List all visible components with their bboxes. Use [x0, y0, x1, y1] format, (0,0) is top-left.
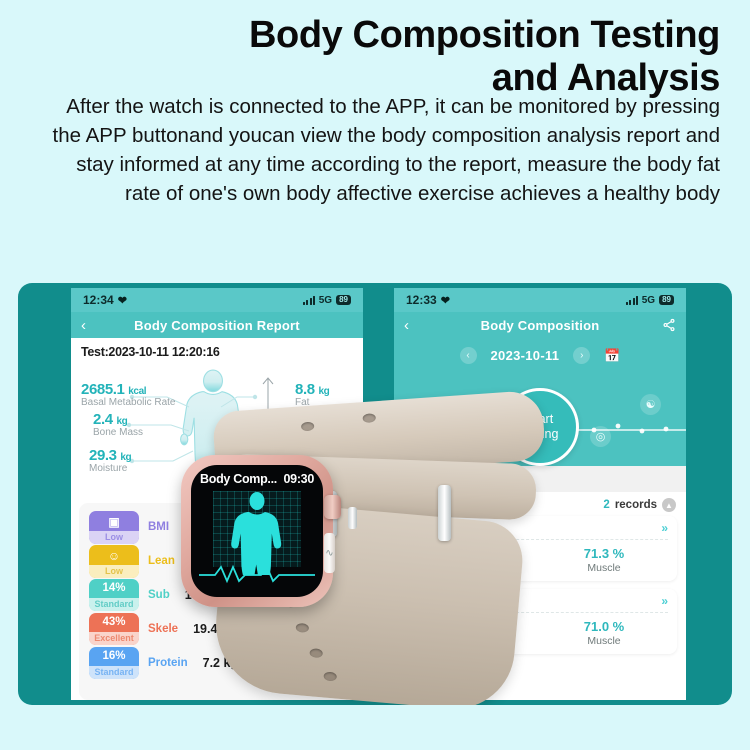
- record-card-1-muscle-label: Muscle: [540, 562, 668, 574]
- chevron-up-icon[interactable]: ▲: [662, 498, 676, 512]
- record-card-2-muscle: 71.0 % Muscle: [540, 619, 668, 647]
- start-testing-area: ⚘ ◎ ◎ ☯ Start testing: [394, 382, 686, 466]
- metric-status-lean: Low: [89, 565, 139, 578]
- back-button[interactable]: ‹: [404, 318, 424, 333]
- status-bar-left: 12:34 ❤ 5G 89: [71, 288, 363, 312]
- status-bar-right: 12:33 ❤ 5G 89: [394, 288, 686, 312]
- records-count-value: 2: [603, 499, 609, 511]
- metric-chip-bmi: ▣ Low: [89, 511, 139, 544]
- testing-section: ‹ 2023-10-11 › 📅 ⚘ ◎ ◎ ☯: [394, 338, 686, 466]
- metric-list: ▣ Low BMI 16.5 ☺ Low Lean 36. 14% Standa…: [79, 503, 355, 700]
- metric-row-skeletal[interactable]: 43% Excellent Skele 19.4 kg: [79, 612, 355, 646]
- record-card-2-muscle-value: 71.0 %: [540, 619, 668, 634]
- record-card-1-muscle-value: 71.3 %: [540, 546, 668, 561]
- network-label-right: 5G: [642, 295, 655, 306]
- record-card-1-stats: 6% y Fat 71.3 % Muscle: [412, 540, 668, 574]
- header-section: Body Composition Testing and Analysis Af…: [0, 0, 750, 283]
- record-card-1-bodyfat-label: y Fat: [412, 562, 540, 574]
- heart-icon: ❤: [118, 294, 127, 307]
- back-button[interactable]: ‹: [81, 318, 101, 333]
- metric-moisture-number: 29.3: [89, 447, 117, 464]
- branch-icon: ◎: [590, 426, 611, 447]
- record-card-1[interactable]: 6 » 6% y Fat 71.3 % Muscle: [403, 516, 677, 581]
- metric-status-bmi: Low: [89, 531, 139, 544]
- metric-moisture-label: Moisture: [89, 463, 131, 474]
- metric-name-protein: Protein: [148, 657, 188, 669]
- test-timestamp: Test:2023-10-11 12:20:16: [71, 338, 363, 363]
- muscle-icon: ☯: [640, 394, 661, 415]
- metric-status-skeletal: Excellent: [89, 632, 139, 645]
- prev-date-button[interactable]: ‹: [460, 347, 477, 364]
- metric-chip-skeletal: 43% Excellent: [89, 613, 139, 645]
- heart-icon: ❤: [441, 294, 450, 307]
- metric-bone-mass-unit: kg: [116, 416, 127, 427]
- metric-bmr-number: 2685.1: [81, 381, 124, 398]
- record-card-2-stats: 19.9 % Body Fat 71.0 % Muscle: [412, 613, 668, 647]
- metric-bmr-unit: kcal: [128, 386, 146, 397]
- record-card-2-muscle-label: Muscle: [540, 635, 668, 647]
- metric-row-subcutaneous[interactable]: 14% Standard Sub 13.: [79, 578, 355, 612]
- height-label: 165cm: [279, 427, 316, 441]
- metric-bmr-label: Basal Metabolic Rate: [81, 397, 176, 408]
- metric-bmr-value: 2685.1 kcal: [81, 381, 176, 398]
- metric-value-protein: 7.2 kg: [203, 656, 238, 670]
- metric-bone-mass-label: Bone Mass: [93, 427, 143, 438]
- app-bar-right: ‹ Body Composition: [394, 312, 686, 338]
- signal-bars-icon: [626, 296, 638, 305]
- record-card-2-bodyfat-label: Body Fat: [412, 635, 540, 647]
- metric-fat-number: 8.8: [295, 381, 315, 398]
- metric-row-bmi[interactable]: ▣ Low BMI 16.5: [79, 510, 355, 544]
- metric-value-subcutaneous: 13.: [185, 588, 202, 602]
- status-time-right: 12:33: [406, 293, 437, 307]
- metric-row-lean[interactable]: ☺ Low Lean 36.: [79, 544, 355, 578]
- metric-fat-label: Fat: [295, 397, 329, 408]
- product-image-panel: 12:34 ❤ 5G 89 ‹ Body Composition Report …: [18, 283, 732, 705]
- metric-chip-lean: ☺ Low: [89, 545, 139, 578]
- metric-fat: 8.8 kg Fat: [295, 381, 329, 408]
- metric-chip-subcutaneous: 14% Standard: [89, 579, 139, 611]
- lean-body-icon: ☺: [89, 549, 139, 562]
- record-card-1-muscle: 71.3 % Muscle: [540, 546, 668, 574]
- double-chevron-right-icon[interactable]: »: [661, 594, 668, 608]
- record-card-2-bodyfat: 19.9 % Body Fat: [412, 619, 540, 647]
- metric-chip-value-subcutaneous: 14%: [102, 582, 125, 594]
- record-card-1-time: 6: [412, 522, 418, 534]
- record-card-2-bodyfat-value: 19.9 %: [412, 619, 540, 634]
- status-left-group-right: 12:33 ❤: [406, 293, 450, 307]
- next-date-button[interactable]: ›: [573, 347, 590, 364]
- share-icon[interactable]: [656, 318, 676, 332]
- metric-name-lean: Lean: [148, 555, 175, 567]
- records-count: 2 records ▲: [394, 492, 686, 516]
- app-title-right: Body Composition: [424, 318, 656, 333]
- dna-icon: ⚘: [430, 424, 451, 445]
- phone-left: 12:34 ❤ 5G 89 ‹ Body Composition Report …: [71, 288, 363, 700]
- page-title: Body Composition Testing and Analysis: [60, 14, 720, 99]
- calendar-icon[interactable]: 📅: [604, 348, 620, 364]
- date-navigation: ‹ 2023-10-11 › 📅: [394, 338, 686, 364]
- phone-right: 12:33 ❤ 5G 89 ‹ Body Composition ‹: [394, 288, 686, 700]
- page-subtitle: After the watch is connected to the APP,…: [52, 92, 720, 208]
- metric-value-skeletal: 19.4 kg: [193, 622, 235, 636]
- double-chevron-right-icon[interactable]: »: [661, 521, 668, 535]
- metric-moisture: 29.3 kg Moisture: [89, 447, 131, 474]
- record-card-1-bodyfat: 6% y Fat: [412, 546, 540, 574]
- metric-moisture-unit: kg: [120, 452, 131, 463]
- metric-chip-protein: 16% Standard: [89, 647, 139, 679]
- network-label: 5G: [319, 295, 332, 306]
- bmi-icon: ▣: [89, 515, 139, 528]
- start-testing-button[interactable]: Start testing: [501, 388, 579, 466]
- metric-name-bmi: BMI: [148, 521, 169, 533]
- molecule-icon: ◎: [478, 396, 499, 417]
- metric-chip-value-skeletal: 43%: [102, 616, 125, 628]
- share-icon-svg: [662, 318, 676, 332]
- metric-status-subcutaneous: Standard: [89, 598, 139, 611]
- signal-bars-icon: [303, 296, 315, 305]
- status-time: 12:34: [83, 293, 114, 307]
- record-card-1-bodyfat-value: 6%: [412, 546, 540, 561]
- metric-value-lean: 36.: [190, 554, 207, 568]
- metric-fat-unit: kg: [318, 386, 329, 397]
- status-left-group: 12:34 ❤: [83, 293, 127, 307]
- start-testing-line2: testing: [522, 427, 559, 442]
- metric-chip-value-protein: 16%: [102, 650, 125, 662]
- metric-fat-value: 8.8 kg: [295, 381, 329, 398]
- app-bar-left: ‹ Body Composition Report: [71, 312, 363, 338]
- record-card-2[interactable]: » 19.9 % Body Fat 71.0 % Muscle: [403, 589, 677, 654]
- metric-name-skeletal: Skele: [148, 623, 178, 635]
- metric-bone-mass-value: 2.4 kg: [93, 411, 143, 428]
- status-right-group: 5G 89: [303, 295, 351, 306]
- record-card-1-top: 6 »: [412, 521, 668, 540]
- metric-moisture-value: 29.3 kg: [89, 447, 131, 464]
- status-right-group-right: 5G 89: [626, 295, 674, 306]
- records-count-label: records: [615, 499, 657, 511]
- records-header: ords): [394, 466, 686, 492]
- metric-name-subcutaneous: Sub: [148, 589, 170, 601]
- battery-badge: 89: [336, 295, 351, 305]
- metric-row-protein[interactable]: 16% Standard Protein 7.2 kg: [79, 646, 355, 680]
- current-date: 2023-10-11: [491, 348, 560, 363]
- page-title-line1: Body Composition Testing: [249, 14, 720, 56]
- battery-badge-right: 89: [659, 295, 674, 305]
- app-title: Body Composition Report: [101, 318, 333, 333]
- body-diagram: 2685.1 kcal Basal Metabolic Rate 2.4 kg …: [71, 363, 363, 503]
- record-card-2-top: »: [412, 594, 668, 613]
- metric-value-bmi: 16.5: [184, 520, 208, 534]
- metric-bmr: 2685.1 kcal Basal Metabolic Rate: [81, 381, 176, 408]
- metric-status-protein: Standard: [89, 666, 139, 679]
- start-testing-line1: Start: [527, 412, 553, 427]
- metric-bone-mass-number: 2.4: [93, 411, 113, 428]
- metric-bone-mass: 2.4 kg Bone Mass: [93, 411, 143, 438]
